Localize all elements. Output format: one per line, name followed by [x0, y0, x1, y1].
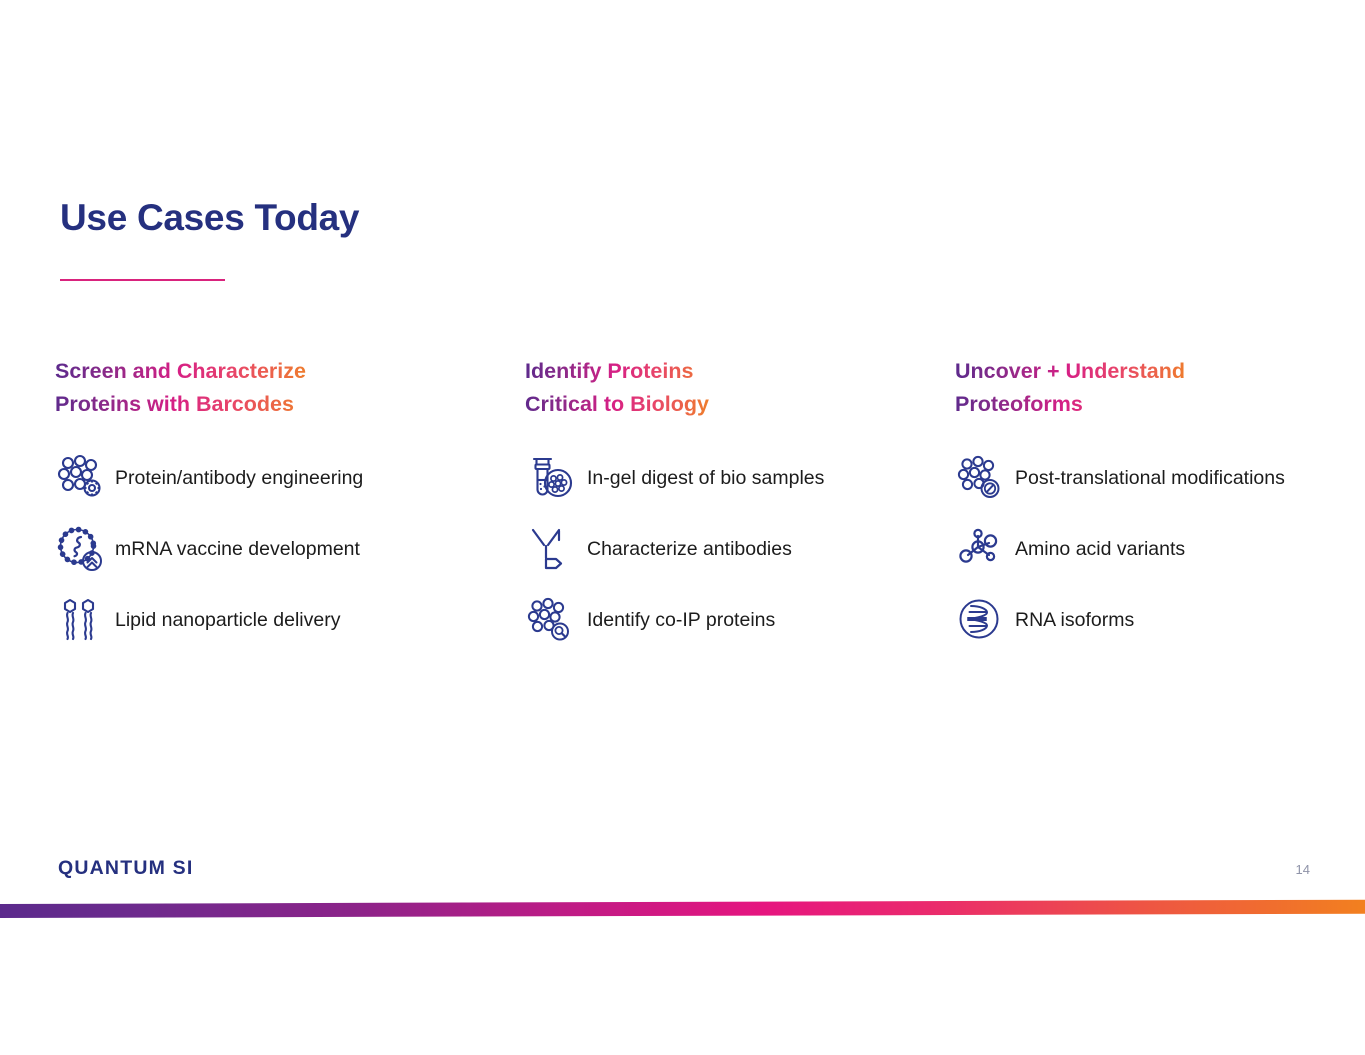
- list-item[interactable]: Amino acid variants: [955, 515, 1345, 586]
- lipid-nanoparticle-icon: [55, 595, 107, 647]
- amino-acid-node-icon: [955, 524, 1007, 576]
- use-case-columns: Screen and Characterize Proteins with Ba…: [55, 355, 1345, 657]
- list-item-label: In-gel digest of bio samples: [587, 467, 824, 490]
- column-item-list: In-gel digest of bio samples Characteriz…: [525, 444, 955, 657]
- molecule-search-icon: [525, 595, 577, 647]
- title-block: Use Cases Today: [60, 198, 359, 281]
- mrna-capsid-upgrade-icon: [55, 524, 107, 576]
- list-item[interactable]: Lipid nanoparticle delivery: [55, 586, 525, 657]
- title-underline-rule: [60, 279, 225, 281]
- list-item[interactable]: Post-translational modifications: [955, 444, 1345, 515]
- column-item-list: Protein/antibody engineering mRNA vaccin…: [55, 444, 525, 657]
- column-item-list: Post-translational modifications: [955, 444, 1345, 657]
- bottom-gradient-bar: [0, 900, 1365, 918]
- list-item[interactable]: Characterize antibodies: [525, 515, 955, 586]
- list-item-label: RNA isoforms: [1015, 609, 1134, 632]
- list-item-label: Characterize antibodies: [587, 538, 792, 561]
- list-item[interactable]: Identify co-IP proteins: [525, 586, 955, 657]
- column-heading: Uncover + Understand Proteoforms: [955, 355, 1185, 422]
- column-heading: Identify Proteins Critical to Biology: [525, 355, 709, 422]
- page-title: Use Cases Today: [60, 198, 359, 239]
- molecule-edit-icon: [955, 453, 1007, 505]
- slide-canvas: Use Cases Today Screen and Characterize …: [0, 0, 1365, 1055]
- antibody-tag-icon: [525, 524, 577, 576]
- list-item-label: Post-translational modifications: [1015, 467, 1285, 490]
- list-item-label: Lipid nanoparticle delivery: [115, 609, 340, 632]
- logo-wordmark: QUANTUM SI: [58, 857, 194, 880]
- column-screen-and-characterize: Screen and Characterize Proteins with Ba…: [55, 355, 525, 657]
- list-item-label: mRNA vaccine development: [115, 538, 360, 561]
- list-item-label: Amino acid variants: [1015, 538, 1185, 561]
- column-identify-proteins: Identify Proteins Critical to Biology: [525, 355, 955, 657]
- test-tube-molecule-icon: [525, 453, 577, 505]
- page-number: 14: [1296, 862, 1310, 877]
- list-item[interactable]: In-gel digest of bio samples: [525, 444, 955, 515]
- list-item-label: Protein/antibody engineering: [115, 467, 363, 490]
- column-uncover-understand: Uncover + Understand Proteoforms: [955, 355, 1345, 657]
- list-item[interactable]: RNA isoforms: [955, 586, 1345, 657]
- protein-cluster-gear-icon: [55, 453, 107, 505]
- column-heading: Screen and Characterize Proteins with Ba…: [55, 355, 306, 422]
- quantum-si-logo: QUANTUM SI: [58, 857, 194, 880]
- list-item[interactable]: mRNA vaccine development: [55, 515, 525, 586]
- list-item-label: Identify co-IP proteins: [587, 609, 775, 632]
- rna-strand-circle-icon: [955, 595, 1007, 647]
- list-item[interactable]: Protein/antibody engineering: [55, 444, 525, 515]
